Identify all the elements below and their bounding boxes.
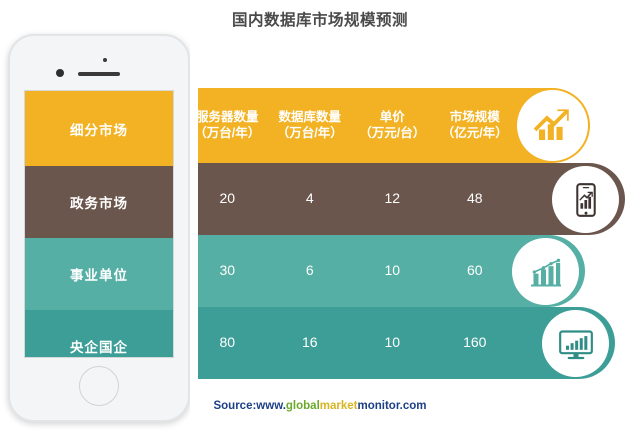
cell-servers: 30 [186, 235, 269, 307]
earpiece-speaker-icon [78, 72, 120, 76]
cell-databases: 4 [269, 163, 352, 235]
cell-unit-price: 10 [351, 235, 434, 307]
source-attribution: Source:www.globalmarketmonitor.com [0, 400, 640, 412]
monitor-bar-chart-icon [542, 310, 609, 377]
source-global: global [286, 400, 320, 412]
column-header-databases: 数据库数量 （万台/年） [269, 88, 352, 163]
column-header-market-size: 市场规模 （亿元/年） [434, 88, 517, 163]
cell-market-size: 48 [434, 163, 517, 235]
cell-servers: 80 [186, 307, 269, 379]
row-label-cell-1: 政务市场 [25, 166, 173, 238]
cell-unit-price: 10 [351, 307, 434, 379]
source-prefix: Source:www. [213, 400, 285, 412]
source-monitor: monitor.com [358, 400, 427, 412]
column-header-servers: 服务器数量 （万台/年） [186, 88, 269, 163]
row-label-3: 央企国企 [25, 336, 173, 356]
row-label-cell-3: 央企国企 [25, 310, 173, 358]
table-row: 30 6 10 60 [186, 235, 516, 307]
cell-databases: 6 [269, 235, 352, 307]
source-market: market [320, 400, 358, 412]
phone-bezel-gap [190, 34, 198, 422]
table-header-row: 服务器数量 （万台/年） 数据库数量 （万台/年） 单价 （万元/台） 市场规模… [186, 88, 516, 163]
row-label-0: 细分市场 [25, 119, 173, 139]
smartphone-mockup: 细分市场 政务市场 事业单位 央企国企 [8, 34, 190, 422]
table-row: 20 4 12 48 [186, 163, 516, 235]
bar-chart-line-icon [512, 238, 579, 305]
row-label-cell-0: 细分市场 [25, 91, 173, 166]
row-label-cell-2: 事业单位 [25, 238, 173, 310]
phone-screen: 细分市场 政务市场 事业单位 央企国企 [24, 90, 174, 358]
infographic-canvas: 国内数据库市场规模预测 服务器数量 （万台/年） 数据库数量 （万台/年） 单价… [0, 0, 640, 440]
cell-servers: 20 [186, 163, 269, 235]
trending-up-bar-chart-icon [517, 90, 588, 161]
cell-market-size: 60 [434, 235, 517, 307]
front-camera-icon [56, 69, 64, 77]
mobile-bar-chart-icon [552, 166, 619, 233]
proximity-sensor-icon [103, 58, 107, 62]
cell-market-size: 160 [434, 307, 517, 379]
row-label-2: 事业单位 [25, 264, 173, 284]
column-header-unit-price: 单价 （万元/台） [351, 88, 434, 163]
cell-databases: 16 [269, 307, 352, 379]
cell-unit-price: 12 [351, 163, 434, 235]
row-label-1: 政务市场 [25, 192, 173, 212]
table-row: 80 16 10 160 [186, 307, 516, 379]
